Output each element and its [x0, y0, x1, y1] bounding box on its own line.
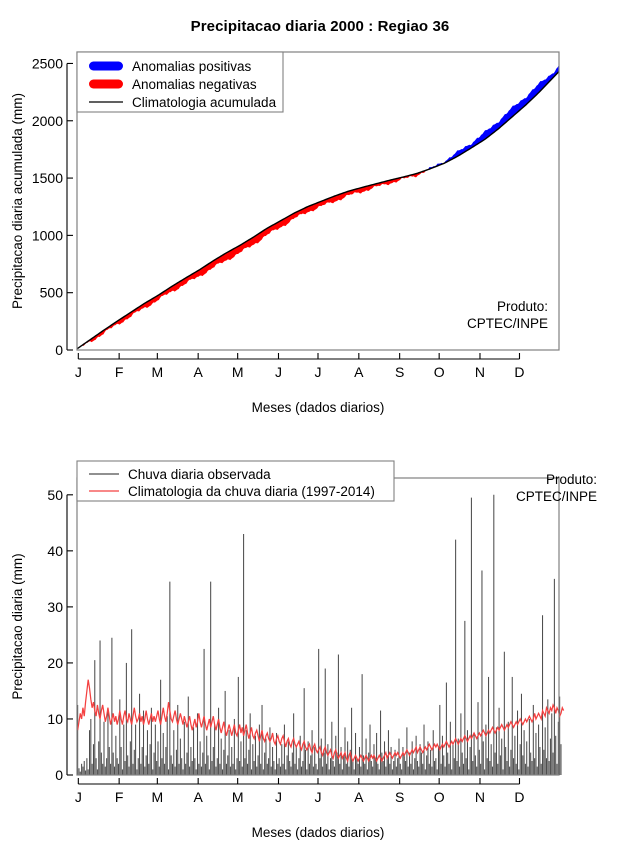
y-tick-label: 0: [55, 767, 63, 783]
negative-anomaly-area: [80, 169, 429, 347]
positive-anomaly-area: [428, 65, 559, 169]
daily-precipitation-panel: 01020304050Precipitacao diaria (mm)JFMAM…: [0, 430, 640, 850]
produto-label-line2: CPTEC/INPE: [467, 316, 548, 331]
x-tick-label: M: [232, 789, 244, 805]
x-tick-label: F: [115, 364, 124, 380]
y-tick-label: 500: [40, 285, 64, 301]
legend-label: Anomalias negativas: [132, 77, 257, 92]
y-tick-label: 50: [47, 487, 63, 503]
x-tick-label: J: [275, 364, 282, 380]
accumulated-precipitation-panel: Precipitacao diaria 2000 : Regiao 36 050…: [0, 0, 640, 430]
x-axis: JFMAMJJASOND: [75, 778, 525, 805]
produto-label-line1: Produto:: [497, 299, 548, 314]
accumulated-chart-svg: 05001000150020002500Precipitacao diaria …: [0, 0, 640, 430]
y-tick-label: 20: [47, 655, 63, 671]
y-tick-label: 2500: [32, 55, 63, 71]
y-axis: 01020304050: [47, 487, 73, 783]
x-tick-label: N: [475, 364, 485, 380]
x-tick-label: M: [151, 364, 163, 380]
legend-label: Anomalias positivas: [132, 59, 252, 74]
x-tick-label: A: [193, 789, 203, 805]
legend-label: Climatologia da chuva diaria (1997-2014): [128, 484, 375, 499]
y-axis: 05001000150020002500: [32, 55, 73, 358]
y-tick-label: 10: [47, 711, 63, 727]
legend-swatch: [89, 80, 123, 89]
observed-rain-bars: [78, 495, 561, 775]
x-tick-label: S: [395, 789, 404, 805]
y-tick-label: 1500: [32, 170, 63, 186]
x-tick-label: D: [514, 789, 524, 805]
x-tick-label: N: [475, 789, 485, 805]
daily-chart-svg: 01020304050Precipitacao diaria (mm)JFMAM…: [0, 430, 640, 850]
legend-swatch: [89, 62, 123, 71]
x-tick-label: A: [354, 364, 364, 380]
x-tick-label: J: [75, 789, 82, 805]
legend: Chuva diaria observadaClimatologia da ch…: [77, 461, 394, 501]
x-tick-label: J: [75, 364, 82, 380]
x-axis: JFMAMJJASOND: [75, 353, 525, 380]
y-axis-title: Precipitacao diaria acumulada (mm): [10, 93, 25, 309]
x-tick-label: F: [115, 789, 124, 805]
figure-root: Precipitacao diaria 2000 : Regiao 36 050…: [0, 0, 640, 850]
y-tick-label: 2000: [32, 113, 63, 129]
x-tick-label: J: [315, 789, 322, 805]
x-tick-label: J: [275, 789, 282, 805]
x-tick-label: A: [193, 364, 203, 380]
y-axis-title: Precipitacao diaria (mm): [10, 553, 25, 699]
y-tick-label: 40: [47, 543, 63, 559]
x-tick-label: J: [315, 364, 322, 380]
x-axis-title: Meses (dados diarios): [252, 825, 385, 840]
x-tick-label: O: [434, 789, 445, 805]
x-axis-title: Meses (dados diarios): [252, 400, 385, 415]
x-tick-label: A: [354, 789, 364, 805]
y-tick-label: 0: [55, 342, 63, 358]
legend: Anomalias positivasAnomalias negativasCl…: [77, 52, 283, 112]
climatology-accumulated-line: [77, 71, 559, 348]
plot-border: [77, 478, 559, 775]
y-tick-label: 30: [47, 599, 63, 615]
legend-label: Chuva diaria observada: [128, 467, 271, 482]
x-tick-label: S: [395, 364, 404, 380]
x-tick-label: O: [434, 364, 445, 380]
x-tick-label: M: [232, 364, 244, 380]
x-tick-label: D: [514, 364, 524, 380]
x-tick-label: M: [151, 789, 163, 805]
legend-label: Climatologia acumulada: [132, 95, 277, 110]
produto-label-line1: Produto:: [546, 472, 597, 487]
produto-label-line2: CPTEC/INPE: [516, 489, 597, 504]
y-tick-label: 1000: [32, 227, 63, 243]
